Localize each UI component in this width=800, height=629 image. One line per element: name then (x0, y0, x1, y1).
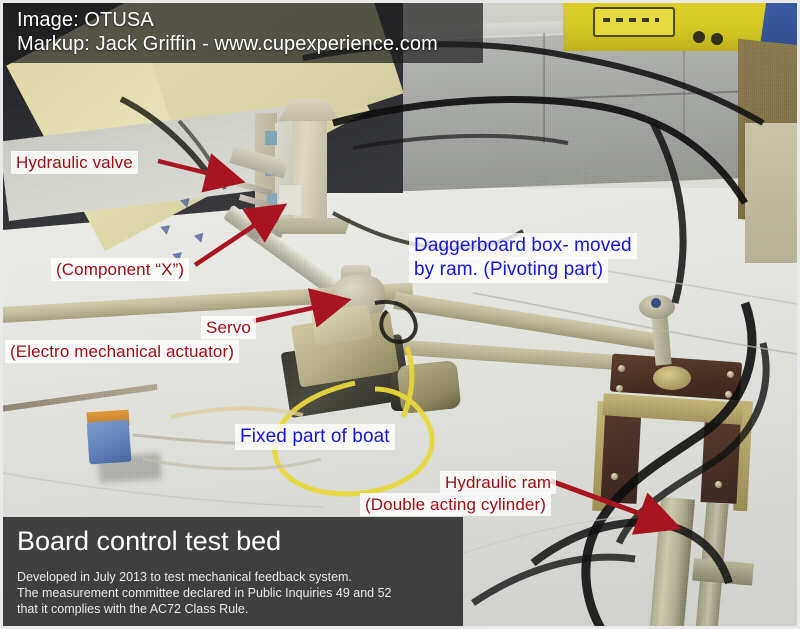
label-hydraulic-ram: Hydraulic ram (440, 471, 556, 494)
cable-upper-2 (333, 100, 745, 203)
cable-loop-mid (375, 302, 416, 342)
caption-overlay: Board control test bed Developed in July… (3, 517, 463, 626)
label-hydraulic-valve: Hydraulic valve (11, 151, 138, 174)
cable-upper-3 (353, 136, 568, 148)
cable-dark-floor-2 (179, 121, 225, 189)
credit-overlay: Image: OTUSA Markup: Jack Griffin - www.… (3, 3, 483, 63)
credit-markup-line: Markup: Jack Griffin - www.cupexperience… (17, 32, 438, 56)
cable-vertical (653, 123, 683, 303)
label-component-x: (Component “X”) (51, 258, 189, 281)
label-daggerboard-box-line2: by ram. (Pivoting part) (409, 257, 608, 283)
credit-image-line: Image: OTUSA (17, 8, 154, 32)
caption-body-line-1: Developed in July 2013 to test mechanica… (17, 569, 352, 586)
label-daggerboard-box-line1: Daggerboard box- moved (409, 233, 637, 259)
left-wire-1 (171, 408, 303, 417)
label-servo: Servo (201, 316, 256, 339)
caption-body-line-3: that it complies with the AC72 Class Rul… (17, 601, 248, 618)
arrow-component-x (195, 221, 261, 265)
caption-title: Board control test bed (17, 525, 281, 557)
label-double-acting-cylinder: (Double acting cylinder) (360, 493, 551, 516)
label-fixed-part-of-boat: Fixed part of boat (235, 424, 395, 450)
caption-body-line-2: The measurement committee declared in Pu… (17, 585, 392, 602)
cable-bottom-1 (533, 522, 729, 583)
deck-seam-3 (3, 473, 323, 507)
arrow-servo (253, 306, 321, 321)
left-wire-3 (143, 459, 321, 469)
yellow-cable-up (403, 347, 412, 417)
cable-bottom-2 (473, 557, 635, 603)
label-electro-mechanical-actuator: (Electro mechanical actuator) (5, 340, 239, 363)
annotated-photo-figure: Image: OTUSA Markup: Jack Griffin - www.… (0, 0, 800, 629)
